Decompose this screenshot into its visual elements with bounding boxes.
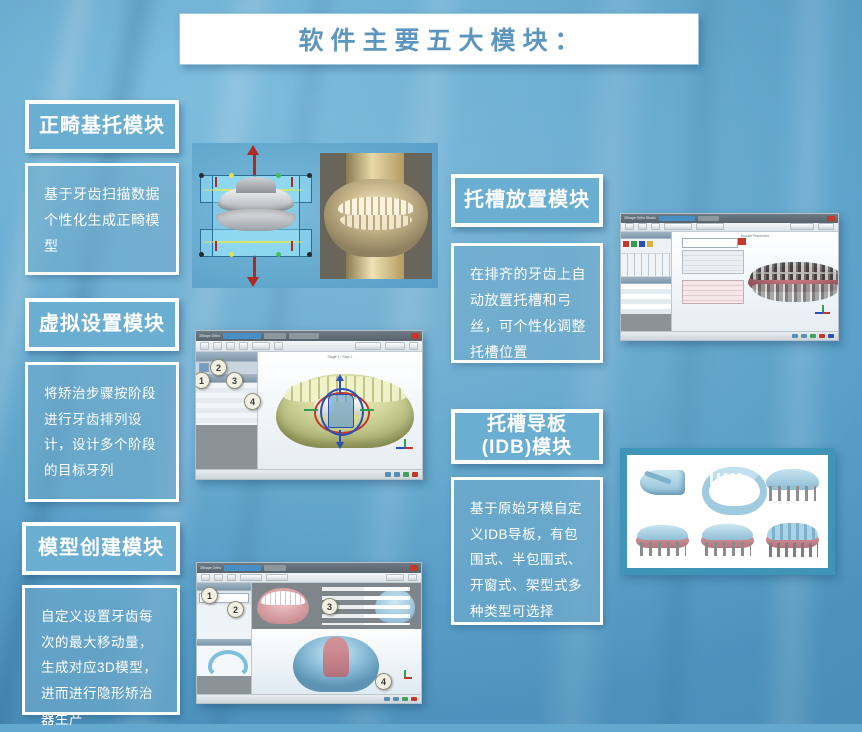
idb-tray-grid xyxy=(627,455,828,568)
module-badge-label: 模型创建模块 xyxy=(38,537,164,561)
idb-tray-variant-half-coverage xyxy=(696,459,759,511)
window-titlebar: 3Shape Ortho xyxy=(197,563,421,573)
module-badge-label-line1: 托槽导板 xyxy=(487,414,567,436)
plane-arrow xyxy=(291,241,293,251)
tooth-data-table-lower xyxy=(682,280,744,304)
callout-marker-4: 4 xyxy=(244,393,261,410)
window-title-text: 3Shape Ortho Studio xyxy=(624,216,656,220)
software-window: 3Shape Ortho Studio xyxy=(621,214,838,340)
callout-marker-4: 4 xyxy=(375,673,392,690)
render-right-specimen-gold xyxy=(320,153,432,279)
status-indicator[interactable] xyxy=(828,334,834,338)
toolbar-button[interactable] xyxy=(213,342,222,350)
status-indicator[interactable] xyxy=(384,697,390,702)
software-window: 3Shape Ortho xyxy=(196,331,422,479)
window-title-text: 3Shape Ortho xyxy=(199,334,220,338)
toolbar-button[interactable] xyxy=(638,223,647,230)
toolbar-button[interactable] xyxy=(227,574,236,581)
titlebar-tab-active[interactable] xyxy=(659,216,695,221)
panel-section-header[interactable] xyxy=(621,277,671,284)
plane-handle[interactable] xyxy=(276,252,281,257)
toolbar-button[interactable] xyxy=(226,342,235,350)
module-badge-bracket-placement[interactable]: 托槽放置模块 xyxy=(451,174,603,227)
dental-model-grey-lower xyxy=(216,209,296,231)
module-badge-label: 托槽放置模块 xyxy=(464,189,590,213)
parameter-fields[interactable] xyxy=(364,587,410,625)
panel-empty-area xyxy=(197,676,251,694)
status-indicator[interactable] xyxy=(819,334,825,338)
module-badge-idb-tray[interactable]: 托槽导板 (IDB)模块 xyxy=(451,409,603,464)
gold-teeth-upper xyxy=(338,197,414,215)
arrow-shaft-down xyxy=(253,255,256,279)
viewport-label: Stage 1 / Step 1 xyxy=(327,355,352,359)
module-description-text: 在排齐的牙齿上自动放置托槽和弓丝，可个性化调整托槽位置 xyxy=(470,266,586,360)
toolbar-button[interactable] xyxy=(818,223,834,230)
toolbar-button[interactable] xyxy=(274,342,283,350)
window-body: Bracket Placement xyxy=(621,232,838,331)
toolbar-button[interactable] xyxy=(409,342,418,350)
callout-marker-1: 1 xyxy=(201,587,218,604)
arrow-head-down-icon xyxy=(247,277,259,287)
panel-sliders[interactable] xyxy=(621,253,671,277)
status-indicator[interactable] xyxy=(792,334,798,338)
toolbar-dropdown[interactable] xyxy=(664,223,692,230)
image-bracket-placement-software-screenshot: 3Shape Ortho Studio xyxy=(620,213,839,341)
status-indicator[interactable] xyxy=(801,334,807,338)
titlebar-tab-active[interactable] xyxy=(224,565,261,571)
module-description-text: 自定义设置牙齿每次的最大移动量，生成对应3D模型，进而进行隐形矫治器生产 xyxy=(41,609,157,727)
viewport-3d[interactable] xyxy=(252,583,421,694)
callout-marker-3: 3 xyxy=(226,372,243,389)
image-model-creation-software-screenshot: 3Shape Ortho xyxy=(196,562,422,704)
axis-widget-icon xyxy=(397,670,413,684)
idb-tray-variant-window xyxy=(761,459,824,511)
image-idb-tray-variants-render xyxy=(620,448,835,575)
arrow-head-up-icon xyxy=(247,145,259,155)
window-statusbar xyxy=(621,331,838,340)
module-badge-base-plate[interactable]: 正畸基托模块 xyxy=(25,100,179,153)
toolbar-dropdown[interactable] xyxy=(696,223,724,230)
module-description-text: 基于牙齿扫描数据个性化生成正畸模型 xyxy=(44,186,160,254)
arrow-shaft-up xyxy=(253,153,256,177)
status-indicator[interactable] xyxy=(412,472,418,477)
panel-section-header[interactable] xyxy=(621,232,671,239)
titlebar-tab[interactable] xyxy=(264,333,286,339)
toolbar-button[interactable] xyxy=(385,342,405,350)
titlebar-tab-active[interactable] xyxy=(223,333,260,339)
plane-handle[interactable] xyxy=(229,173,234,178)
table-label xyxy=(738,238,746,245)
window-toolbar xyxy=(621,223,838,232)
tooth-selector-dropdown[interactable] xyxy=(682,238,738,248)
dental-model-dome xyxy=(236,177,276,193)
window-title-text: 3Shape Ortho xyxy=(200,566,221,570)
viewport-3d[interactable]: Stage 1 / Step 1 xyxy=(258,352,422,469)
module-badge-model-creation[interactable]: 模型创建模块 xyxy=(22,522,180,575)
dental-arch-with-brackets xyxy=(748,260,839,306)
window-close-icon[interactable] xyxy=(411,333,419,339)
idb-tray-variant-frame-pink xyxy=(631,513,694,565)
viewport-label: Bracket Placement xyxy=(741,234,769,238)
render-left-specimen xyxy=(196,145,314,286)
window-statusbar xyxy=(197,694,421,703)
toolbar-button[interactable] xyxy=(214,574,223,581)
module-description-text: 基于原始牙模自定义IDB导板，有包围式、半包围式、开窗式、架型式多种类型可选择 xyxy=(470,501,582,619)
image-virtual-setup-software-screenshot: 3Shape Ortho xyxy=(195,330,423,480)
status-indicator[interactable] xyxy=(402,697,408,702)
module-description-bracket-placement: 在排齐的牙齿上自动放置托槽和弓丝，可个性化调整托槽位置 xyxy=(451,243,603,363)
module-badge-label: 虚拟设置模块 xyxy=(39,313,165,337)
plane-arrow xyxy=(291,177,293,187)
plane-handle[interactable] xyxy=(307,173,312,178)
window-titlebar: 3Shape Ortho Studio xyxy=(621,214,838,223)
axis-widget-icon xyxy=(815,305,831,319)
left-panel xyxy=(621,232,672,331)
module-badge-label-line2: (IDB)模块 xyxy=(482,437,572,459)
aligner-model-pink-detail xyxy=(323,637,349,677)
plane-handle[interactable] xyxy=(229,252,234,257)
status-indicator[interactable] xyxy=(393,697,399,702)
rotation-gizmo[interactable] xyxy=(314,388,368,434)
window-body: Stage 1 / Step 1 xyxy=(196,352,422,469)
toolbar-button[interactable] xyxy=(386,574,404,581)
tooth-data-table-upper xyxy=(682,250,744,274)
panel-icon-row[interactable] xyxy=(621,239,671,253)
plane-handle[interactable] xyxy=(276,173,281,178)
panel-section-header[interactable] xyxy=(197,639,251,646)
titlebar-tab[interactable] xyxy=(289,333,320,339)
toolbar-button[interactable] xyxy=(355,342,381,350)
idb-tray-variant-bar-pink xyxy=(761,513,824,565)
module-description-base-plate: 基于牙齿扫描数据个性化生成正畸模型 xyxy=(25,163,179,275)
plane-handle[interactable] xyxy=(199,173,204,178)
idb-tray-variant-arch-pink xyxy=(696,513,759,565)
module-description-model-creation: 自定义设置牙齿每次的最大移动量，生成对应3D模型，进而进行隐形矫治器生产 xyxy=(22,585,180,715)
titlebar-tab[interactable] xyxy=(264,565,286,571)
plane-arrow xyxy=(215,241,217,251)
plane-handle[interactable] xyxy=(199,252,204,257)
toolbar-button[interactable] xyxy=(201,574,210,581)
window-statusbar xyxy=(196,469,422,479)
page-title-banner: 软件主要五大模块： xyxy=(179,13,699,65)
toolbar-button[interactable] xyxy=(200,342,209,350)
callout-marker-2: 2 xyxy=(210,359,227,376)
module-description-idb-tray: 基于原始牙模自定义IDB导板，有包围式、半包围式、开窗式、架型式多种类型可选择 xyxy=(451,477,603,625)
window-toolbar xyxy=(197,573,421,583)
window-titlebar: 3Shape Ortho xyxy=(196,331,422,341)
module-badge-virtual-setup[interactable]: 虚拟设置模块 xyxy=(25,298,179,351)
toolbar-button[interactable] xyxy=(266,574,288,581)
window-close-icon[interactable] xyxy=(827,216,835,221)
page-title: 软件主要五大模块： xyxy=(291,21,586,57)
status-indicator[interactable] xyxy=(403,472,409,477)
panel-preview-arch xyxy=(197,646,251,676)
toolbar-button[interactable] xyxy=(790,223,814,230)
plane-arrow xyxy=(215,177,217,187)
panel-section-header[interactable] xyxy=(196,352,257,362)
toolbar-button[interactable] xyxy=(252,342,270,350)
status-indicator[interactable] xyxy=(810,334,816,338)
axis-widget-icon xyxy=(396,439,414,455)
window-close-icon[interactable] xyxy=(410,565,418,571)
panel-fields[interactable] xyxy=(621,284,671,314)
status-indicator[interactable] xyxy=(394,472,400,477)
module-description-virtual-setup: 将矫治步骤按阶段进行牙齿排列设计，设计多个阶段的目标牙列 xyxy=(25,362,179,502)
status-indicator[interactable] xyxy=(411,697,417,702)
viewport-3d[interactable]: Bracket Placement xyxy=(672,232,838,331)
callout-marker-3: 3 xyxy=(321,598,338,615)
callout-marker-2: 2 xyxy=(227,601,244,618)
toolbar-button[interactable] xyxy=(239,342,248,350)
module-badge-label: 正畸基托模块 xyxy=(39,115,165,139)
toolbar-button[interactable] xyxy=(625,223,634,230)
panel-empty-area xyxy=(196,425,257,469)
viewport-main[interactable] xyxy=(252,629,421,693)
toolbar-button[interactable] xyxy=(651,223,660,230)
left-panel xyxy=(196,352,258,469)
panel-empty-area xyxy=(621,314,671,331)
window-toolbar xyxy=(196,341,422,352)
idb-tray-variant-full-coverage xyxy=(631,459,694,511)
status-indicator[interactable] xyxy=(385,472,391,477)
image-orthodontic-base-3d-render xyxy=(192,143,438,288)
toolbar-button[interactable] xyxy=(240,574,262,581)
toolbar-button[interactable] xyxy=(408,574,417,581)
titlebar-tab[interactable] xyxy=(698,216,719,221)
module-description-text: 将矫治步骤按阶段进行牙齿排列设计，设计多个阶段的目标牙列 xyxy=(44,386,156,478)
plane-handle[interactable] xyxy=(307,252,312,257)
